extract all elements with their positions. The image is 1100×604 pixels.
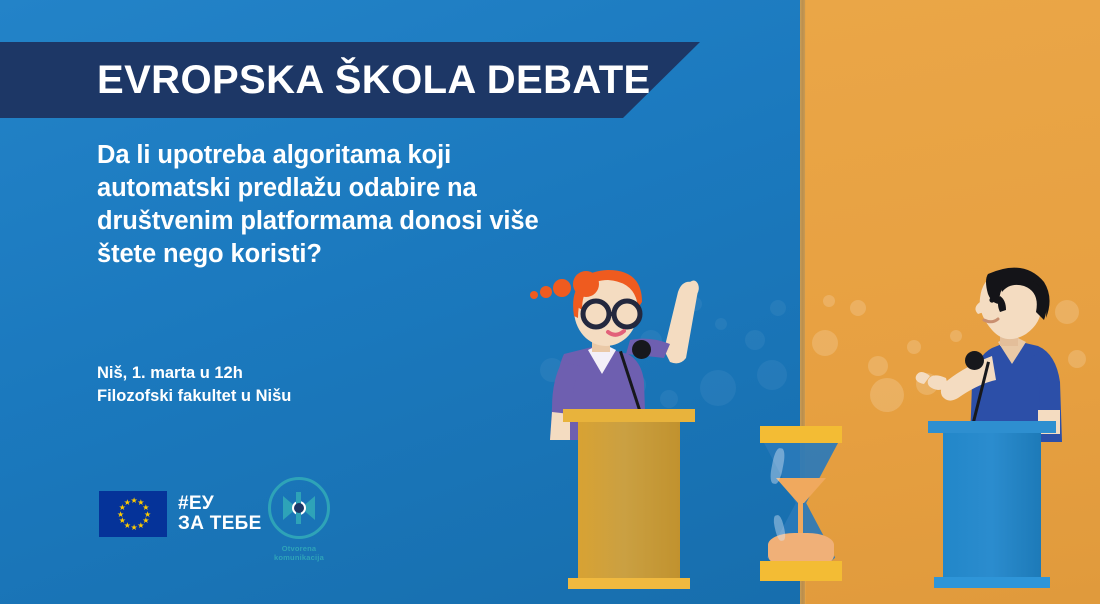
bokeh-circle	[715, 318, 727, 330]
event-datetime: Niš, 1. marta u 12h	[97, 362, 291, 385]
otvorena-komunikacija-logo: Otvorena komunikacija	[262, 477, 336, 563]
bokeh-circle	[850, 300, 866, 316]
eu-star-icon: ★	[131, 498, 136, 503]
podium-right-base	[934, 577, 1050, 588]
hourglass-sand-stream	[798, 495, 803, 537]
event-venue: Filozofski fakultet u Nišu	[97, 385, 291, 408]
title-banner: EVROPSKA ŠKOLA DEBATE	[0, 42, 700, 118]
eu-star-icon: ★	[131, 525, 136, 530]
eu-slogan: #ЕУ ЗА ТЕБЕ	[178, 494, 262, 535]
eu-star-icon: ★	[117, 512, 122, 517]
eu-star-icon: ★	[142, 505, 147, 510]
debate-question: Da li upotreba algoritama koji automatsk…	[97, 139, 567, 272]
microphone-head	[632, 340, 651, 359]
page-title: EVROPSKA ŠKOLA DEBATE	[97, 58, 651, 103]
eu-slogan-line1: #ЕУ	[178, 494, 262, 514]
bokeh-circle	[770, 300, 786, 316]
eu-star-icon: ★	[137, 523, 142, 528]
bokeh-circle	[812, 330, 838, 356]
debate-poster: EVROPSKA ŠKOLA DEBATE Da li upotreba alg…	[0, 0, 1100, 604]
podium-left-top	[563, 409, 695, 422]
bokeh-circle	[868, 356, 888, 376]
hourglass-bottom-cap	[760, 561, 842, 581]
bokeh-circle	[757, 360, 787, 390]
eu-flag-icon: ★★★★★★★★★★★★	[99, 491, 167, 537]
podium-right-top	[928, 421, 1056, 433]
event-details: Niš, 1. marta u 12h Filozofski fakultet …	[97, 362, 291, 409]
hourglass-top-cap	[760, 426, 842, 443]
eu-star-icon: ★	[119, 518, 124, 523]
bokeh-circle	[745, 330, 765, 350]
ok-caption: Otvorena komunikacija	[262, 544, 336, 563]
male-debater	[900, 252, 1100, 442]
eu-logo: ★★★★★★★★★★★★ #ЕУ ЗА ТЕБЕ	[99, 491, 262, 537]
microphone-head	[965, 351, 984, 370]
eu-slogan-line2: ЗА ТЕБЕ	[178, 514, 262, 534]
podium-left-body	[578, 422, 680, 582]
bokeh-circle	[823, 295, 835, 307]
bokeh-circle	[870, 378, 904, 412]
podium-left-base	[568, 578, 690, 589]
eu-star-icon: ★	[124, 500, 129, 505]
podium-right-body	[943, 433, 1041, 581]
ok-caption-line1: Otvorena	[262, 544, 336, 553]
ok-caption-line2: komunikacija	[262, 553, 336, 562]
ok-monogram-icon	[268, 477, 330, 539]
